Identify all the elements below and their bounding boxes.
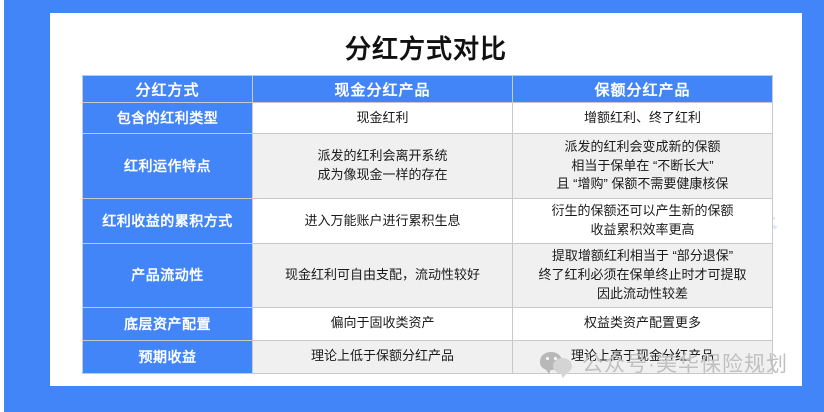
row-label: 红利运作特点: [83, 134, 253, 199]
row-label: 产品流动性: [83, 244, 253, 308]
comparison-table: 分红方式 现金分红产品 保额分红产品 包含的红利类型 现金红利 增额红利、终了红…: [82, 75, 773, 374]
cell-sum: 权益类资产配置更多: [513, 307, 773, 340]
row-label: 预期收益: [83, 340, 253, 373]
table-row: 底层资产配置 偏向于固收类资产 权益类资产配置更多: [83, 307, 773, 340]
header-cell-cash: 现金分红产品: [253, 76, 513, 103]
page-title: 分红方式对比: [50, 29, 802, 66]
row-label: 红利收益的累积方式: [83, 199, 253, 244]
wechat-icon: [540, 350, 574, 376]
cell-cash: 现金红利可自由支配，流动性较好: [253, 244, 513, 308]
row-label: 底层资产配置: [83, 307, 253, 340]
cell-cash: 派发的红利会离开系统成为像现金一样的存在: [253, 134, 513, 199]
cell-cash: 进入万能账户进行累积生息: [253, 199, 513, 244]
cell-sum: 提取增额红利相当于 “部分退保”终了红利必须在保单终止时才可提取因此流动性较差: [513, 244, 773, 308]
table-row: 红利收益的累积方式 进入万能账户进行累积生息 衍生的保额还可以产生新的保额收益累…: [83, 199, 773, 244]
table-row: 产品流动性 现金红利可自由支配，流动性较好 提取增额红利相当于 “部分退保”终了…: [83, 244, 773, 308]
header-cell-category: 分红方式: [83, 76, 253, 103]
brand-footer: 公众号·美华保险规划: [540, 348, 788, 378]
cell-cash: 偏向于固收类资产: [253, 307, 513, 340]
blue-outer-frame: 天眼保 天眼保 天眼保 分红方式对比 分红方式 现金分红产品 保额分红产品 包含…: [4, 0, 824, 412]
cell-cash: 现金红利: [253, 103, 513, 134]
header-cell-sum: 保额分红产品: [513, 76, 773, 103]
table-row: 包含的红利类型 现金红利 增额红利、终了红利: [83, 103, 773, 134]
cell-sum: 增额红利、终了红利: [513, 103, 773, 134]
cell-sum: 衍生的保额还可以产生新的保额收益累积效率更高: [513, 199, 773, 244]
table-header-row: 分红方式 现金分红产品 保额分红产品: [83, 76, 773, 103]
cell-sum: 派发的红利会变成新的保额相当于保单在 “不断长大”且 “增购” 保额不需要健康核…: [513, 134, 773, 199]
cell-cash: 理论上低于保额分红产品: [253, 340, 513, 373]
row-label: 包含的红利类型: [83, 103, 253, 134]
table-row: 红利运作特点 派发的红利会离开系统成为像现金一样的存在 派发的红利会变成新的保额…: [83, 134, 773, 199]
content-card: 天眼保 天眼保 天眼保 分红方式对比 分红方式 现金分红产品 保额分红产品 包含…: [50, 13, 802, 386]
brand-name: 公众号·美华保险规划: [582, 348, 788, 378]
